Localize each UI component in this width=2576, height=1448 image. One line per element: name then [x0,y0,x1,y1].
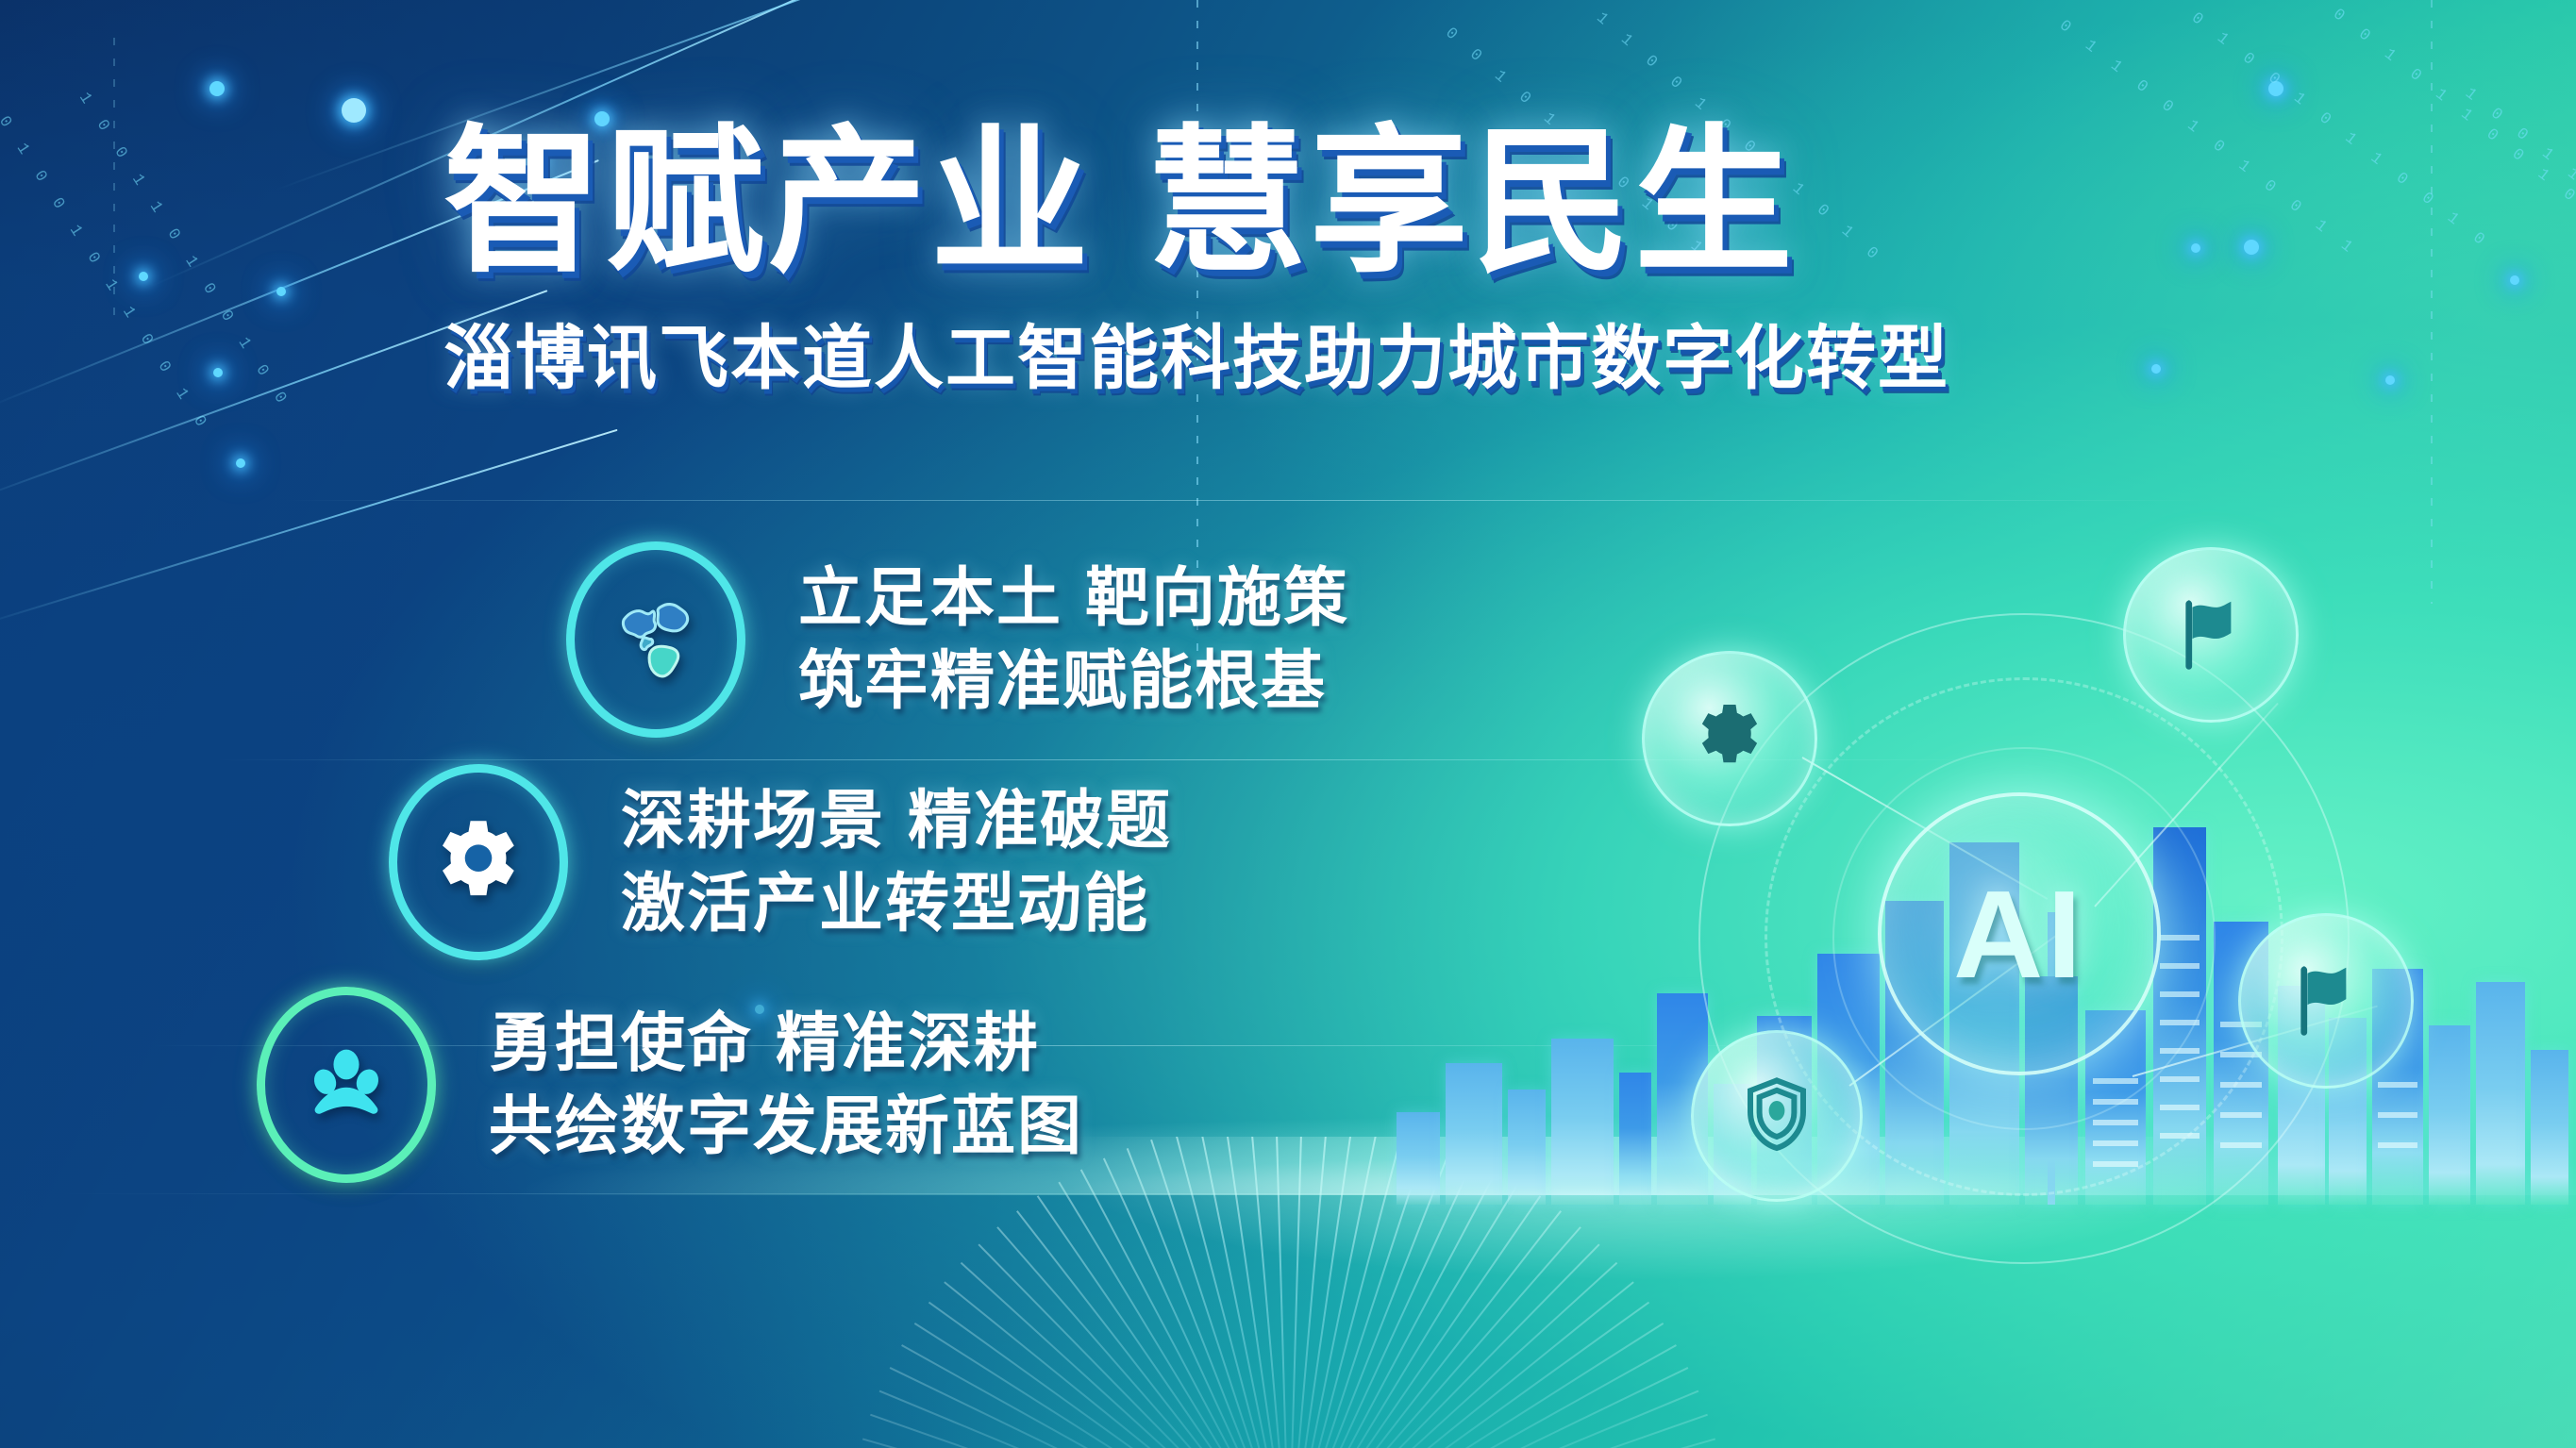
feature-text: 立足本土靶向施策 筑牢精准赋能根基 [798,557,1349,724]
headline-block: 智赋产业慧享民生 淄博讯飞本道人工智能科技助力城市数字化转型 [443,123,2199,403]
gear-icon [429,813,527,911]
feature-line-2: 共绘数字发展新蓝图 [489,1085,1083,1168]
feature-item: 深耕场景精准破题 激活产业转型动能 [0,751,1415,974]
binary-text: 1 0 0 1 1 0 1 0 0 1 0 0 [75,90,293,412]
feature-icon-wrap [389,764,568,960]
feature-item: 勇担使命精准深耕 共绘数字发展新蓝图 [0,974,1415,1196]
binary-text: 0 1 0 0 1 0 1 1 0 0 1 0 [2187,9,2492,254]
ai-label: AI [1953,863,2085,1006]
feature-text: 勇担使命精准深耕 共绘数字发展新蓝图 [489,1002,1083,1169]
glow-dot [139,272,148,281]
poster-canvas: 0 1 0 0 1 0 1 1 0 0 1 0 1 0 0 1 1 0 1 0 … [0,0,2576,1448]
feature-icon-wrap [257,987,436,1183]
shield-lock-icon [1731,1071,1822,1161]
ai-center-node: AI [1878,792,2161,1075]
glow-dot [236,458,245,468]
hub-node-flag-right [2238,913,2414,1089]
glow-dot [2268,81,2283,96]
gear-icon [1686,695,1773,782]
headline-part-1: 智赋产业 [443,113,1093,291]
flag-icon [2168,592,2253,677]
feature-line-1b: 靶向施策 [1085,562,1349,634]
feature-line-2: 筑牢精准赋能根基 [798,640,1349,723]
feature-line-1b: 精准破题 [908,785,1172,857]
section-divider [283,500,2217,501]
feature-line-1a: 勇担使命 [489,1007,753,1079]
feature-text: 深耕场景精准破题 激活产业转型动能 [621,779,1172,946]
glow-dot [213,368,223,377]
building [1508,1090,1546,1205]
feature-line-1: 深耕场景精准破题 [621,779,1172,862]
glow-dot [209,81,225,96]
feature-line-1: 立足本土靶向施策 [798,557,1349,640]
ai-hub-graphic: AI [1566,509,2519,1264]
hub-node-gear [1642,651,1817,826]
feature-icon-wrap [566,541,745,738]
page-subtitle: 淄博讯飞本道人工智能科技助力城市数字化转型 [443,302,2199,403]
hub-node-shield [1691,1030,1863,1202]
team-people-icon [293,1032,399,1138]
page-title: 智赋产业慧享民生 [443,123,2199,281]
binary-text: 0 0 1 0 1 1 0 0 1 0 1 0 [2329,6,2576,250]
binary-text: 1 0 0 1 1 0 1 0 0 1 0 0 [2461,85,2576,329]
building [2531,1050,2568,1205]
vertical-dashed-line [113,38,115,321]
feature-line-1b: 精准深耕 [776,1007,1040,1079]
feature-item: 立足本土靶向施策 筑牢精准赋能根基 [0,528,1415,751]
glow-dot [2244,240,2259,255]
glow-dot [2510,275,2519,285]
feature-line-1a: 立足本土 [798,562,1062,634]
building [1446,1063,1502,1205]
flag-icon [2283,958,2368,1043]
feature-line-2: 激活产业转型动能 [621,862,1172,945]
glow-dot [342,98,366,123]
headline-part-2: 慧享民生 [1147,113,1797,291]
binary-text: 0 1 0 0 1 0 1 1 0 0 1 0 [0,113,212,436]
glow-dot [2385,375,2395,385]
feature-list: 立足本土靶向施策 筑牢精准赋能根基 深耕场景精准破题 激活产业转型动能 [0,528,1415,1196]
feature-line-1a: 深耕场景 [621,785,885,857]
glow-dot [276,287,286,296]
world-map-icon [607,591,705,689]
hub-node-flag-top [2123,547,2299,723]
feature-line-1: 勇担使命精准深耕 [489,1002,1083,1085]
